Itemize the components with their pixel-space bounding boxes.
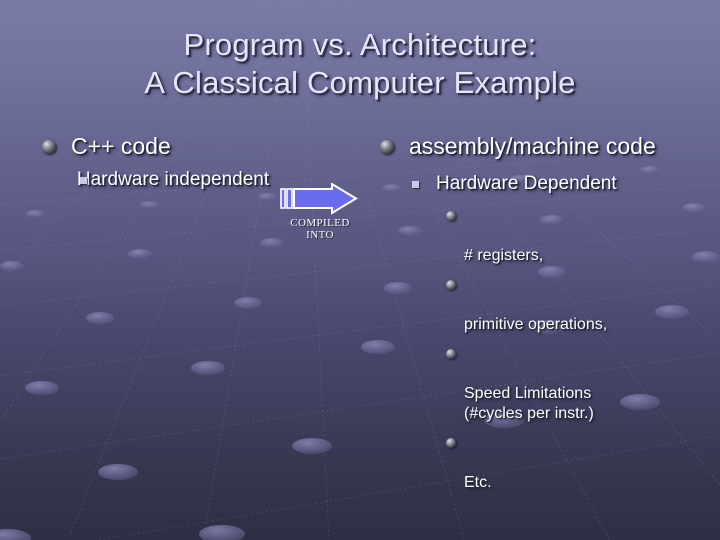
left-level1-label: C++ code <box>71 133 171 159</box>
list-item-label: # registers, <box>464 247 543 264</box>
right-level2-item: Hardware Dependent <box>372 172 672 196</box>
sphere-bullet-icon <box>42 140 56 154</box>
list-item-label: primitive operations, <box>464 316 607 333</box>
left-level1-item: C++ code <box>34 133 294 160</box>
left-content-column: C++ code Hardware independent <box>34 133 294 192</box>
right-level3-list: # registers, primitive operations, Speed… <box>372 206 672 493</box>
list-item: # registers, <box>372 206 672 266</box>
list-item: Speed Limitations (#cycles per instr.) <box>372 344 672 424</box>
small-sphere-bullet-icon <box>446 211 456 221</box>
right-level1-label: assembly/machine code <box>409 133 656 159</box>
list-item-label: Speed Limitations (#cycles per instr.) <box>464 385 594 422</box>
small-sphere-bullet-icon <box>446 349 456 359</box>
square-bullet-icon <box>80 177 87 184</box>
slide-canvas: Program vs. Architecture: A Classical Co… <box>0 0 720 540</box>
left-level2-label: Hardware independent <box>77 169 269 190</box>
right-content-column: assembly/machine code Hardware Dependent… <box>372 133 672 502</box>
right-level2-label: Hardware Dependent <box>436 173 617 194</box>
list-item-label: Etc. <box>464 474 492 491</box>
sphere-bullet-icon <box>380 140 394 154</box>
right-arrow-icon <box>272 183 368 215</box>
list-item: primitive operations, <box>372 275 672 335</box>
compiled-into-connector: COMPILED INTO <box>272 183 368 241</box>
slide-title: Program vs. Architecture: A Classical Co… <box>0 26 720 102</box>
small-sphere-bullet-icon <box>446 280 456 290</box>
left-level2-item: Hardware independent <box>34 168 294 192</box>
square-bullet-icon <box>412 181 419 188</box>
connector-caption: COMPILED INTO <box>272 217 368 241</box>
list-item: Etc. <box>372 433 672 493</box>
small-sphere-bullet-icon <box>446 438 456 448</box>
right-level1-item: assembly/machine code <box>372 133 672 160</box>
